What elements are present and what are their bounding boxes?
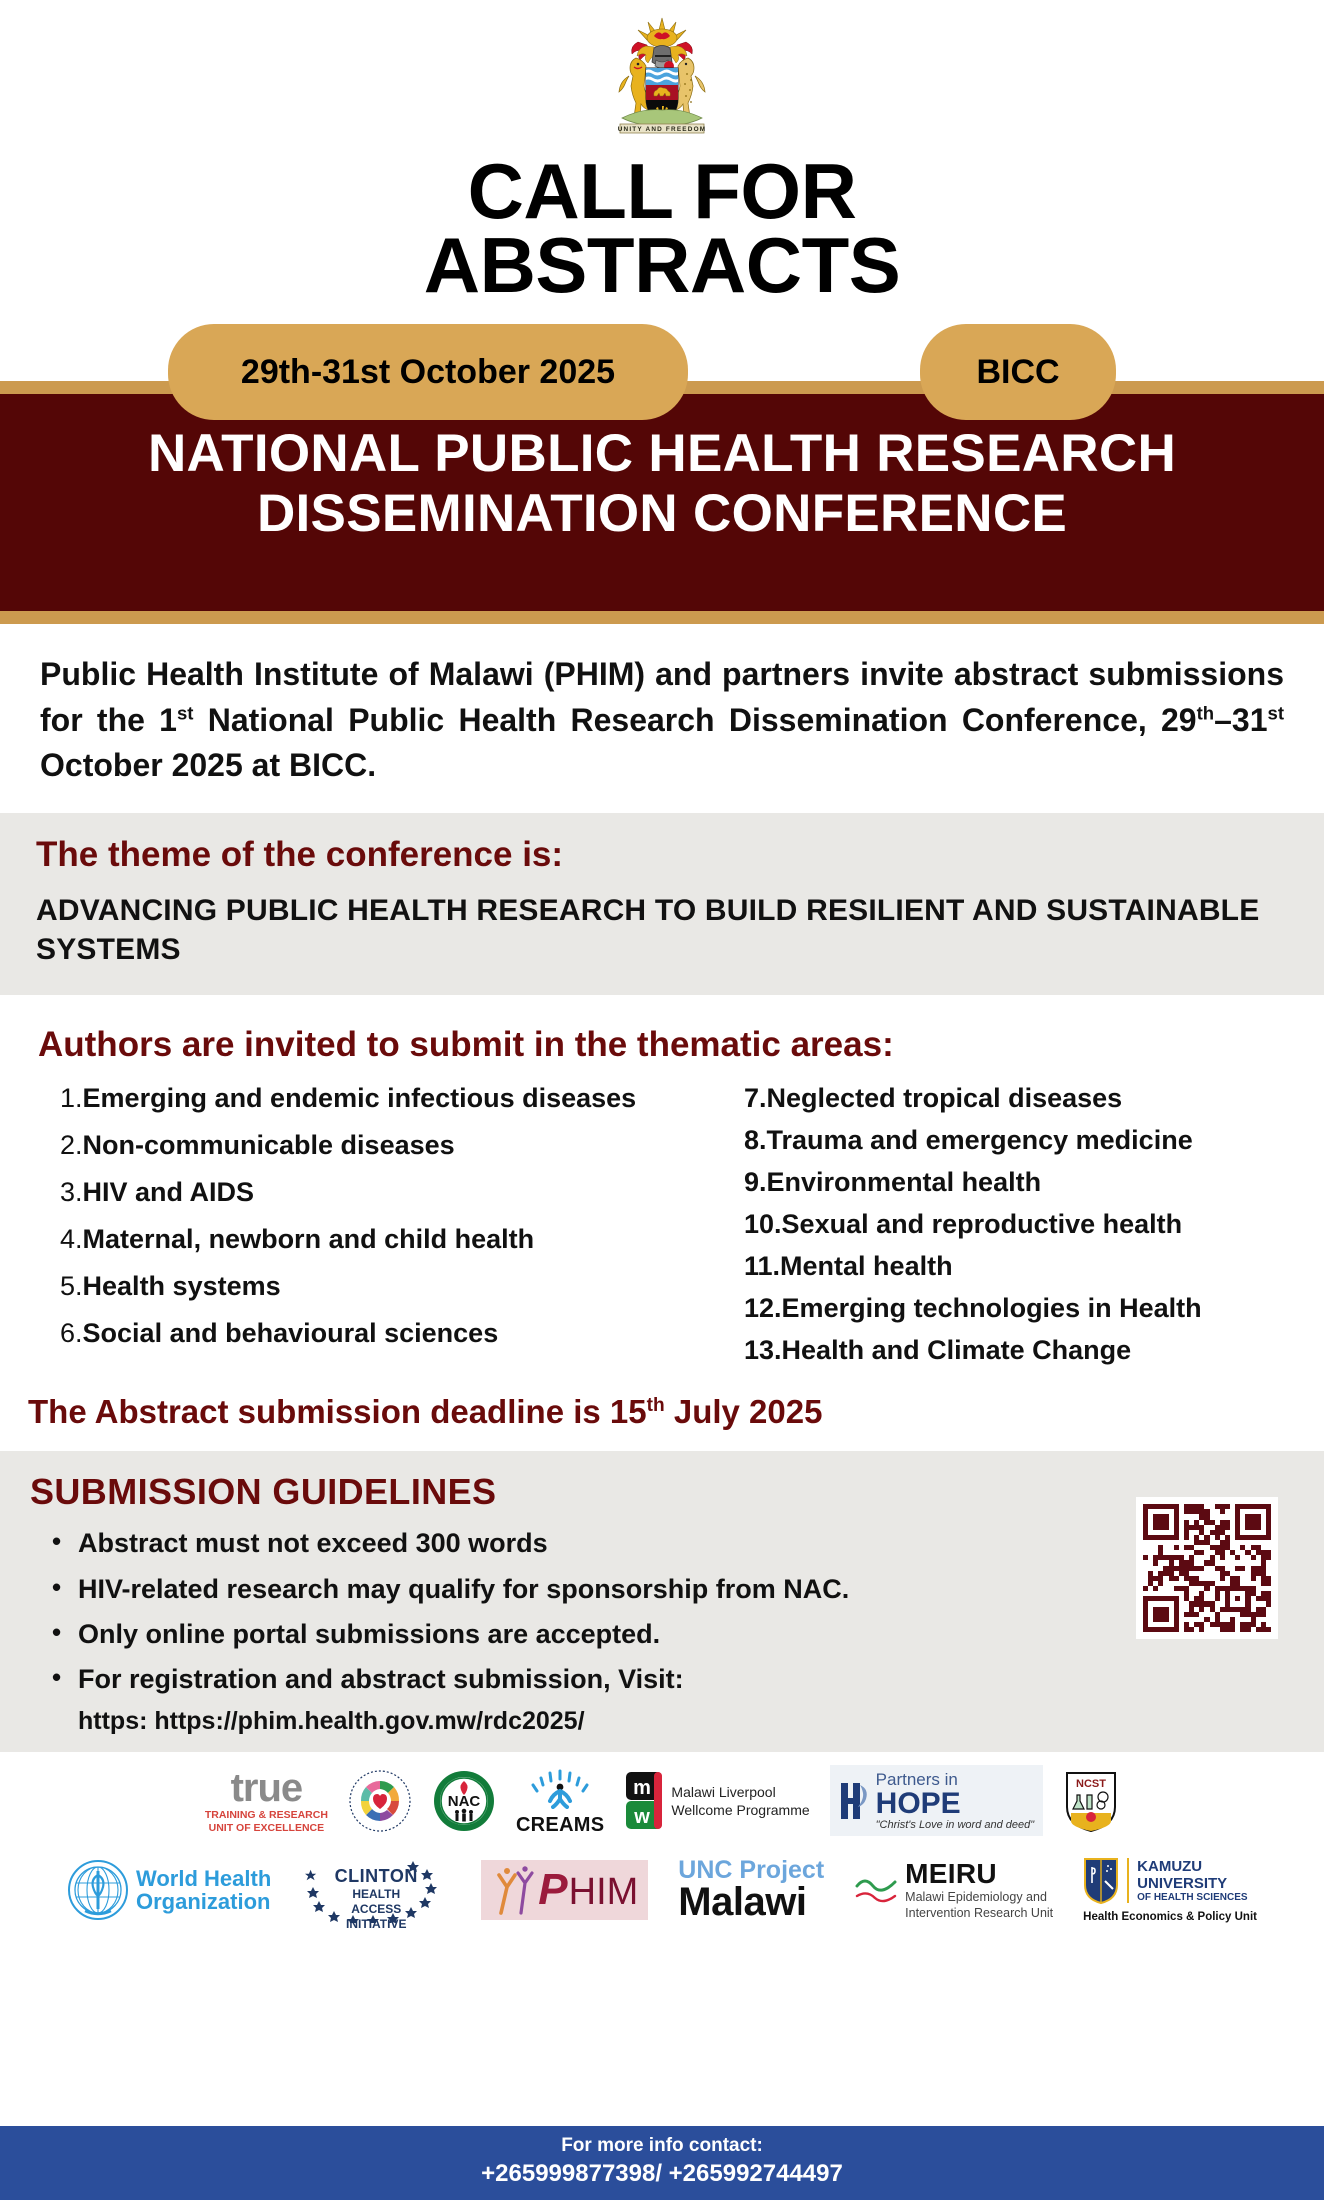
thematic-areas-column-right: 7. Neglected tropical diseases 8. Trauma… (662, 1081, 1290, 1376)
list-item: 6. Social and behavioural sciences (60, 1316, 662, 1351)
venue-badge: BICC (920, 324, 1116, 420)
qr-code-grid (1143, 1504, 1271, 1632)
partners-in-hope-logo-icon (839, 1779, 869, 1823)
deadline-part1: The Abstract submission deadline is 15 (28, 1393, 647, 1430)
unc-logo-line2: Malawi (678, 1883, 824, 1921)
list-item-number: 11. (744, 1249, 780, 1284)
clinton-health-access-initiative-logo: CLINTON HEALTH ACCESSINITIATIVE (301, 1857, 451, 1923)
crest-motto-text: UNITY AND FREEDOM (618, 126, 707, 133)
list-item: • HIV-related research may qualify for s… (52, 1573, 1288, 1605)
list-item-label: Environmental health (767, 1165, 1290, 1200)
nac-logo-wordmark: NAC (448, 1793, 481, 1810)
list-item: 10. Sexual and reproductive health (744, 1207, 1290, 1242)
conference-banner: 29th-31st October 2025 BICC NATIONAL PUB… (0, 324, 1324, 624)
list-item-number: 8. (744, 1123, 767, 1158)
who-logo: World HealthOrganization (67, 1859, 271, 1921)
mlw-logo: m w Malawi LiverpoolWellcome Programme (624, 1770, 809, 1832)
theme-section: The theme of the conference is: ADVANCIN… (0, 813, 1324, 995)
list-item: • For registration and abstract submissi… (52, 1663, 1288, 1695)
intro-paragraph: Public Health Institute of Malawi (PHIM)… (0, 624, 1324, 794)
clinton-logo-subtitle: HEALTH ACCESSINITIATIVE (329, 1887, 423, 1932)
list-item-label: Maternal, newborn and child health (83, 1222, 662, 1257)
venue-badge-label: BICC (976, 353, 1059, 392)
list-item-label: Non-communicable diseases (83, 1128, 662, 1163)
list-item: 13. Health and Climate Change (744, 1333, 1290, 1368)
creams-logo-wordmark: CREAMS (516, 1814, 604, 1837)
list-item: 9. Environmental health (744, 1165, 1290, 1200)
list-item: 5. Health systems (60, 1269, 662, 1304)
intro-part4: October 2025 at BICC. (40, 747, 376, 783)
intro-part3: –31 (1214, 702, 1267, 738)
intro-sup-1st: st (177, 702, 194, 723)
list-item-number: 7. (744, 1081, 767, 1116)
nonm-logo-icon (348, 1769, 412, 1833)
deadline-part2: July 2025 (665, 1393, 823, 1430)
date-badge-label: 29th-31st October 2025 (241, 353, 615, 392)
intro-sup-29th: th (1197, 702, 1215, 723)
nac-logo: NAC (432, 1769, 496, 1833)
who-logo-wordmark: World HealthOrganization (136, 1867, 271, 1913)
list-item: 1. Emerging and endemic infectious disea… (60, 1081, 662, 1116)
ncst-logo-icon: NCST (1063, 1769, 1119, 1833)
theme-lead-label: The theme of the conference is: (36, 835, 1288, 875)
list-item-label: HIV and AIDS (83, 1175, 662, 1210)
list-item-number: 5. (60, 1269, 83, 1304)
kamuzu-logo-unit: Health Economics & Policy Unit (1083, 1911, 1257, 1923)
ncst-logo-wordmark: NCST (1076, 1778, 1106, 1790)
kamuzu-logo-wordmark: KAMUZUUNIVERSITY (1137, 1858, 1247, 1893)
creams-logo: CREAMS (516, 1765, 604, 1837)
partner-logos-row-1: true TRAINING & RESEARCHUNIT OF EXCELLEN… (20, 1758, 1304, 1844)
mlw-logo-subtitle: Malawi LiverpoolWellcome Programme (671, 1783, 809, 1819)
true-logo-subtitle: TRAINING & RESEARCHUNIT OF EXCELLENCE (205, 1809, 328, 1835)
phim-people-icon (491, 1863, 535, 1917)
banner-title-line1: NATIONAL PUBLIC HEALTH RESEARCH (20, 424, 1304, 483)
malawi-coat-of-arms-icon: UNITY AND FREEDOM (598, 14, 726, 140)
list-item-number: 9. (744, 1165, 767, 1200)
partners-in-hope-tagline: "Christ's Love in word and deed" (876, 1819, 1035, 1831)
list-item: • Abstract must not exceed 300 words (52, 1527, 1288, 1559)
unc-project-malawi-logo: UNC Project Malawi (678, 1858, 824, 1921)
kamuzu-shield-icon (1083, 1857, 1119, 1905)
qr-code[interactable] (1136, 1497, 1278, 1639)
svg-text:w: w (634, 1806, 651, 1828)
partners-in-hope-logo: Partners in HOPE "Christ's Love in word … (830, 1765, 1044, 1836)
deadline-sup: th (647, 1395, 665, 1416)
nonm-logo (348, 1769, 412, 1833)
list-item-label: Health systems (83, 1269, 662, 1304)
list-item-label: Social and behavioural sciences (83, 1316, 662, 1351)
phim-logo-initial: P (538, 1872, 567, 1907)
list-item: 4. Maternal, newborn and child health (60, 1222, 662, 1257)
header-crest-container: UNITY AND FREEDOM (0, 0, 1324, 140)
page-title: CALL FOR ABSTRACTS (0, 154, 1324, 302)
bullet-icon: • (52, 1663, 78, 1695)
partner-logos-section: true TRAINING & RESEARCHUNIT OF EXCELLEN… (0, 1752, 1324, 1940)
theme-statement: ADVANCING PUBLIC HEALTH RESEARCH TO BUIL… (36, 891, 1288, 969)
submission-url[interactable]: https: https://phim.health.gov.mw/rdc202… (30, 1707, 1288, 1736)
list-item-number: 4. (60, 1222, 83, 1257)
list-item-number: 10. (744, 1207, 782, 1242)
svg-text:m: m (634, 1777, 652, 1799)
clinton-logo-wordmark: CLINTON (329, 1865, 423, 1888)
list-item: 12. Emerging technologies in Health (744, 1291, 1290, 1326)
list-item-number: 3. (60, 1175, 83, 1210)
list-item: 7. Neglected tropical diseases (744, 1081, 1290, 1116)
list-item-label: Only online portal submissions are accep… (78, 1618, 660, 1650)
who-logo-icon (67, 1859, 129, 1921)
nac-logo-icon: NAC (432, 1769, 496, 1833)
list-item-label: HIV-related research may qualify for spo… (78, 1573, 849, 1605)
deadline-notice: The Abstract submission deadline is 15th… (0, 1375, 1324, 1451)
date-badge: 29th-31st October 2025 (168, 324, 688, 420)
bullet-icon: • (52, 1618, 78, 1650)
creams-logo-icon (523, 1765, 597, 1809)
gold-rule-bottom (0, 611, 1324, 624)
list-item-label: Mental health (780, 1249, 1290, 1284)
phim-logo-wordmark: HIM (569, 1876, 639, 1908)
banner-title-line2: DISSEMINATION CONFERENCE (20, 484, 1304, 543)
bullet-icon: • (52, 1527, 78, 1559)
meiru-logo: MEIRU Malawi Epidemiology andInterventio… (854, 1858, 1053, 1921)
intro-part2: National Public Health Research Dissemin… (193, 702, 1196, 738)
meiru-wave-icon (854, 1874, 898, 1906)
page-title-line2: ABSTRACTS (0, 228, 1324, 302)
ncst-logo: NCST (1063, 1769, 1119, 1833)
contact-footer-label: For more info contact: (0, 2135, 1324, 2157)
list-item-number: 12. (744, 1291, 782, 1326)
list-item-number: 2. (60, 1128, 83, 1163)
partners-in-hope-line2: HOPE (876, 1790, 1035, 1819)
thematic-areas-column-left: 1. Emerging and endemic infectious disea… (34, 1081, 662, 1364)
list-item-label: Emerging technologies in Health (782, 1291, 1290, 1326)
submission-guidelines-section: SUBMISSION GUIDELINES • Abstract must no… (0, 1451, 1324, 1752)
list-item: 2. Non-communicable diseases (60, 1128, 662, 1163)
list-item: 8. Trauma and emergency medicine (744, 1123, 1290, 1158)
phim-logo: P HIM (481, 1860, 648, 1920)
list-item: • Only online portal submissions are acc… (52, 1618, 1288, 1650)
list-item-label: Emerging and endemic infectious diseases (83, 1081, 662, 1116)
thematic-areas-heading: Authors are invited to submit in the the… (34, 1025, 1290, 1065)
list-item-number: 13. (744, 1333, 782, 1368)
list-item-label: Trauma and emergency medicine (767, 1123, 1290, 1158)
submission-guidelines-heading: SUBMISSION GUIDELINES (30, 1471, 1288, 1513)
banner-title: NATIONAL PUBLIC HEALTH RESEARCH DISSEMIN… (0, 424, 1324, 543)
list-item: 3. HIV and AIDS (60, 1175, 662, 1210)
list-item-number: 1. (60, 1081, 83, 1116)
list-item-label: Abstract must not exceed 300 words (78, 1527, 548, 1559)
intro-sup-31st: st (1268, 702, 1285, 723)
kamuzu-logo-subtitle: OF HEALTH SCIENCES (1137, 1892, 1247, 1903)
partner-logos-row-2: World HealthOrganization (20, 1844, 1304, 1936)
list-item-label: For registration and abstract submission… (78, 1663, 684, 1695)
list-item-number: 6. (60, 1316, 83, 1351)
true-logo-wordmark: true (205, 1767, 328, 1809)
list-item-label: Health and Climate Change (782, 1333, 1290, 1368)
contact-footer: For more info contact: +265999877398/ +2… (0, 2126, 1324, 2200)
true-logo: true TRAINING & RESEARCHUNIT OF EXCELLEN… (205, 1767, 328, 1835)
meiru-logo-subtitle: Malawi Epidemiology andIntervention Rese… (905, 1890, 1053, 1921)
mlw-logo-icon: m w (624, 1770, 664, 1832)
kamuzu-university-logo: KAMUZUUNIVERSITY OF HEALTH SCIENCES Heal… (1083, 1857, 1257, 1923)
list-item-label: Sexual and reproductive health (782, 1207, 1290, 1242)
meiru-logo-wordmark: MEIRU (905, 1858, 1053, 1890)
thematic-areas-section: Authors are invited to submit in the the… (0, 995, 1324, 1376)
list-item: 11. Mental health (744, 1249, 1290, 1284)
bullet-icon: • (52, 1573, 78, 1605)
contact-footer-phones[interactable]: +265999877398/ +265992744497 (0, 2160, 1324, 2188)
list-item-label: Neglected tropical diseases (767, 1081, 1290, 1116)
